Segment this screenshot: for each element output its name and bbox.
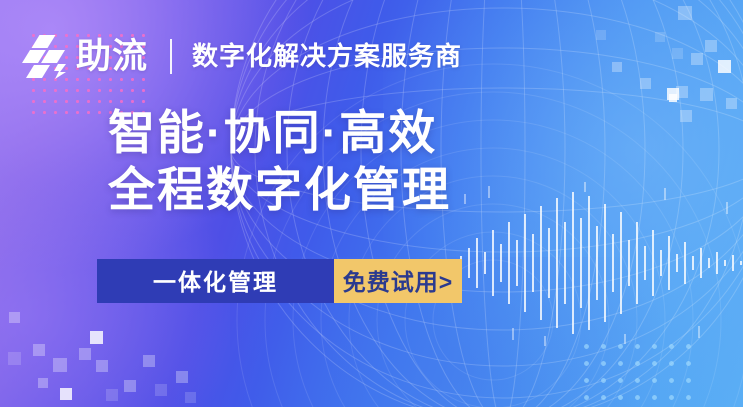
brand-name: 助流: [76, 39, 148, 74]
waveform-icon: [455, 178, 743, 348]
page-title: 智能·协同·高效 全程数字化管理: [108, 104, 451, 219]
integrated-management-button[interactable]: 一体化管理: [97, 259, 334, 303]
brand-tagline: 数字化解决方案服务商: [192, 43, 462, 69]
brand-lockup: 助流 数字化解决方案服务商: [22, 30, 462, 82]
headline-line-1: 智能·协同·高效: [108, 106, 437, 159]
brand-divider: [170, 39, 172, 74]
cyan-dot-grid-decor: [578, 338, 700, 407]
cta-group: 一体化管理 免费试用>: [97, 259, 462, 303]
promo-banner: 助流 数字化解决方案服务商 智能·协同·高效 全程数字化管理 一体化管理 免费试…: [0, 0, 743, 407]
free-trial-button[interactable]: 免费试用>: [334, 259, 462, 303]
headline-line-2: 全程数字化管理: [108, 161, 451, 218]
lightning-bolt-logo-icon: [22, 33, 70, 79]
